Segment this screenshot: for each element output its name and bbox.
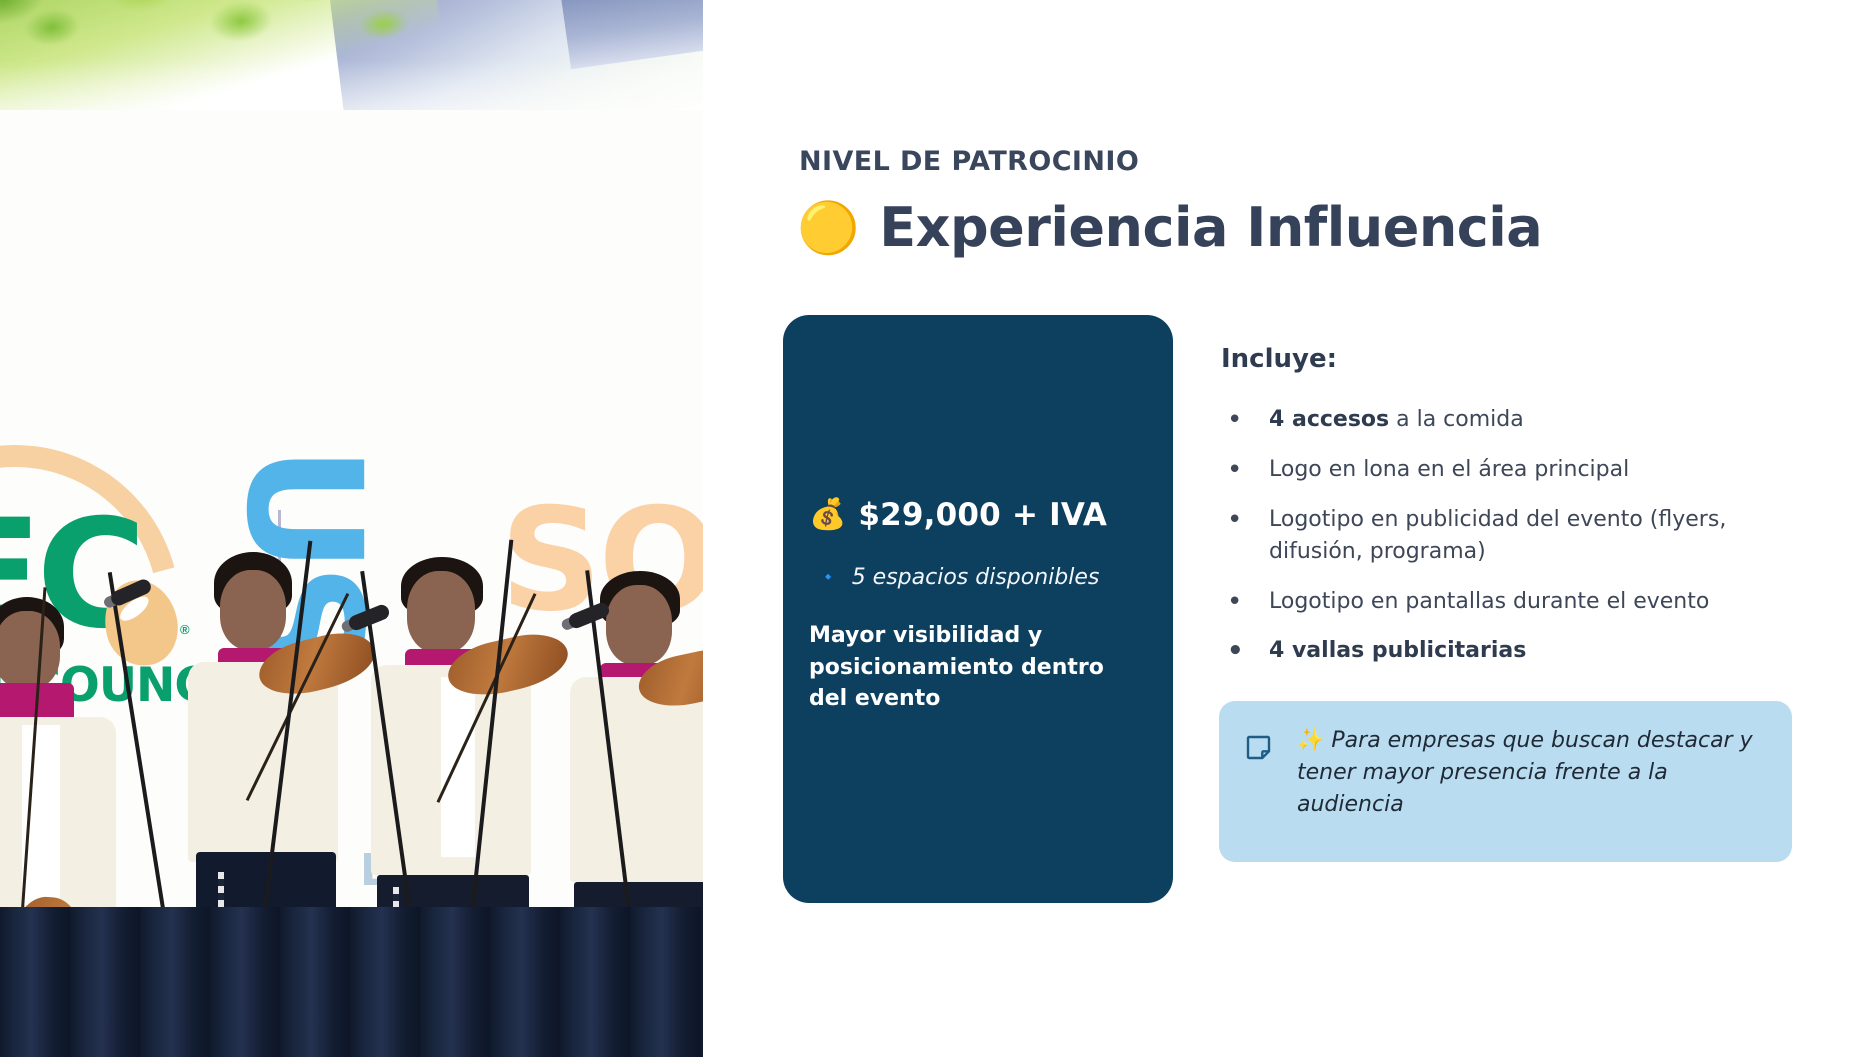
slots-row: 🔹 5 espacios disponibles [819,565,1099,590]
yellow-circle-icon: 🟡 [797,203,859,253]
stage-skirt [0,907,703,1057]
note-icon [1245,734,1272,761]
price-row: 💰 $29,000 + IVA [809,497,1107,533]
page-title: 🟡 Experiencia Influencia [797,196,1542,259]
list-item: Logotipo en publicidad del evento (flyer… [1221,504,1811,568]
includes-list: 4 accesos a la comidaLogo en lona en el … [1221,404,1811,685]
sponsorship-tier-slide: EC ® T COUNCIL US SOY Entre [0,0,1875,1057]
event-photo: EC ® T COUNCIL US SOY Entre [0,0,703,1057]
tier-name: Experiencia Influencia [879,196,1542,259]
money-bag-icon: 💰 [809,500,846,530]
includes-heading: Incluye: [1221,344,1337,374]
highlight-note: ✨ Para empresas que buscan destacar y te… [1219,701,1792,862]
price-card: 💰 $29,000 + IVA 🔹 5 espacios disponibles… [783,315,1173,903]
list-item: Logo en lona en el área principal [1221,454,1811,486]
slots-available: 5 espacios disponibles [852,565,1100,590]
list-item: 4 accesos a la comida [1221,404,1811,436]
registered-mark: ® [180,622,190,637]
eyebrow-label: NIVEL DE PATROCINIO [799,146,1139,177]
list-item: 4 vallas publicitarias [1221,635,1811,667]
price-amount: $29,000 + IVA [858,497,1107,533]
blue-diamond-icon: 🔹 [819,570,838,585]
note-text-block: ✨ Para empresas que buscan destacar y te… [1297,725,1767,821]
note-text: Para empresas que buscan destacar y tene… [1297,728,1753,817]
list-item: Logotipo en pantallas durante el evento [1221,586,1811,618]
list-item-emphasis: 4 accesos [1269,407,1389,432]
slide-content: NIVEL DE PATROCINIO 🟡 Experiencia Influe… [703,0,1875,1057]
price-description: Mayor visibilidad y posicionamiento dent… [809,620,1129,715]
sparkles-icon: ✨ [1297,728,1324,753]
